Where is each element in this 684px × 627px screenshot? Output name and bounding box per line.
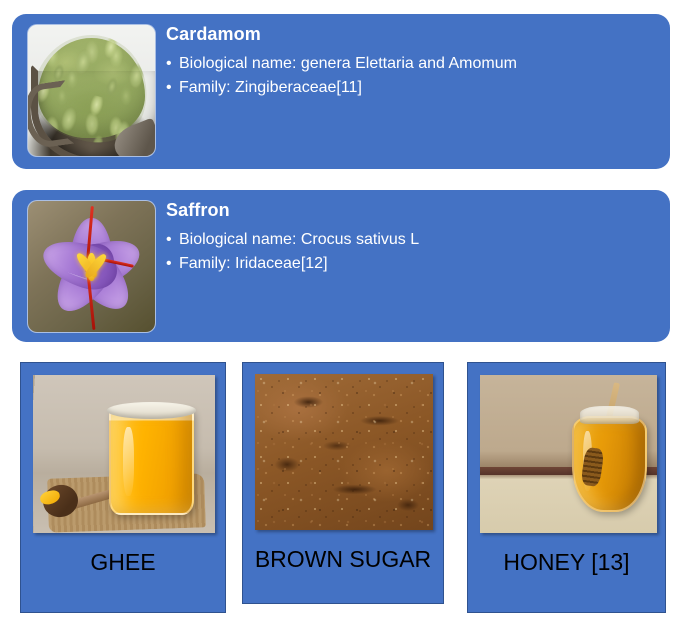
saffron-title: Saffron	[166, 198, 656, 222]
honey-image	[480, 375, 657, 533]
ghee-label: GHEE	[21, 548, 225, 576]
wooden-spoon	[40, 479, 116, 517]
honey-photo-art	[480, 375, 657, 533]
cardamom-bullet-family: Family: Zingiberaceae[11]	[166, 76, 656, 100]
cardamom-bullet-list: Biological name: genera Elettaria and Am…	[166, 52, 656, 100]
saffron-bullet-biological-name: Biological name: Crocus sativus L	[166, 228, 656, 252]
saffron-bullet-list: Biological name: Crocus sativus L Family…	[166, 228, 656, 276]
ghee-image	[33, 375, 215, 533]
saffron-text-block: Saffron Biological name: Crocus sativus …	[166, 198, 656, 276]
cardamom-bullet-biological-name: Biological name: genera Elettaria and Am…	[166, 52, 656, 76]
saffron-image	[28, 201, 155, 332]
brown-sugar-label: BROWN SUGAR	[243, 545, 443, 573]
item-card-brown-sugar: BROWN SUGAR	[242, 362, 444, 604]
item-card-honey: HONEY [13]	[467, 362, 666, 613]
brown-sugar-photo-art	[255, 374, 433, 530]
honey-label: HONEY [13]	[468, 548, 665, 576]
ghee-photo-art	[33, 375, 215, 533]
item-card-ghee: GHEE	[20, 362, 226, 613]
cardamom-image	[28, 25, 155, 156]
info-card-saffron: Saffron Biological name: Crocus sativus …	[12, 190, 670, 342]
ghee-jar	[109, 407, 193, 515]
cardamom-title: Cardamom	[166, 22, 656, 46]
info-card-cardamom: Cardamom Biological name: genera Elettar…	[12, 14, 670, 169]
sugar-grains-overlay	[255, 374, 433, 530]
cardamom-text-block: Cardamom Biological name: genera Elettar…	[166, 22, 656, 100]
saffron-bullet-family: Family: Iridaceae[12]	[166, 252, 656, 276]
cardamom-photo-art	[28, 25, 155, 156]
brown-sugar-image	[255, 374, 433, 530]
saffron-photo-art	[28, 201, 155, 332]
